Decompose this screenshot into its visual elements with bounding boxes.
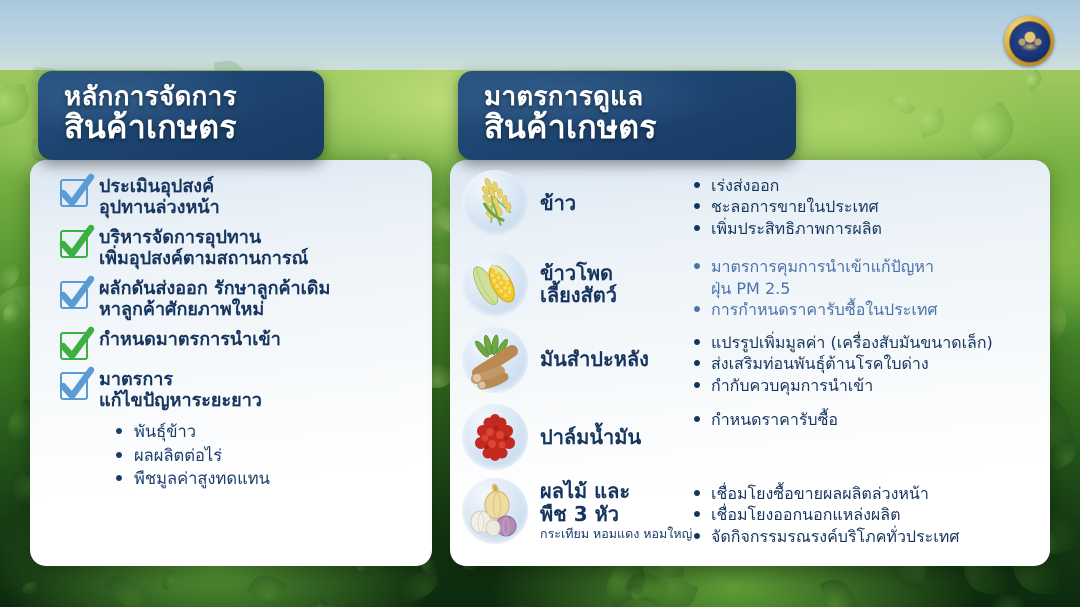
principle-item: มาตรการ แก้ไขปัญหาระยะยาว — [60, 369, 412, 411]
commodity-measure-bullets: เร่งส่งออกชะลอการขายในประเทศเพิ่มประสิทธ… — [694, 170, 1050, 239]
bullet-dot-icon — [694, 225, 700, 231]
commodity-subtitle: กระเทียม หอมแดง หอมใหญ่ — [540, 527, 692, 541]
cassava-icon — [462, 327, 528, 393]
principle-sub-bullets: พันธุ์ข้าวผลผลิตต่อไร่พืชมูลค่าสูงทดแทน — [116, 420, 412, 490]
garlic-onion-icon — [462, 478, 528, 544]
bullet-dot-icon — [116, 428, 122, 434]
bullet-dot-icon — [694, 511, 700, 517]
bullet-dot-icon — [694, 306, 700, 312]
principle-item-label: กำหนดมาตรการนำเข้า — [99, 329, 281, 350]
bullet-dot-icon — [694, 533, 700, 539]
list-item: จัดกิจกรรมรณรงค์บริโภคทั่วประเทศ — [694, 526, 1050, 547]
commodity-name: ข้าว — [540, 192, 576, 215]
list-item: เชื่อมโยงซื้อขายผลผลิตล่วงหน้า — [694, 483, 1050, 504]
rice-ears-icon — [462, 170, 528, 236]
measure-label: ชะลอการขายในประเทศ — [711, 196, 879, 217]
measure-label: เร่งส่งออก — [711, 175, 779, 196]
list-item: เชื่อมโยงออกนอกแหล่งผลิต — [694, 504, 1050, 525]
principles-checklist: ประเมินอุปสงค์ อุปทานล่วงหน้าบริหารจัดกา… — [60, 176, 412, 491]
commodity-name-label: ข้าวโพด เลี้ยงสัตว์ — [540, 261, 617, 308]
commodity-name: ผลไม้ และ พืช 3 หัวกระเทียม หอมแดง หอมให… — [540, 480, 692, 541]
principle-item: ประเมินอุปสงค์ อุปทานล่วงหน้า — [60, 176, 412, 218]
principle-item: กำหนดมาตรการนำเข้า — [60, 329, 412, 360]
measure-label: มาตรการคุมการนำเข้าแก้ปัญหา ฝุ่น PM 2.5 — [711, 256, 934, 299]
list-item: มาตรการคุมการนำเข้าแก้ปัญหา ฝุ่น PM 2.5 — [694, 256, 1050, 299]
list-item: การกำหนดราคารับซื้อในประเทศ — [694, 299, 1050, 320]
infographic-root: หลักการจัดการ สินค้าเกษตร ประเมินอุปสงค์… — [0, 0, 1080, 607]
commodity-name: ข้าวโพด เลี้ยงสัตว์ — [540, 262, 617, 307]
commodity-identity: ปาล์มน้ำมัน — [462, 404, 694, 470]
commodity-row: ผลไม้ และ พืช 3 หัวกระเทียม หอมแดง หอมให… — [462, 478, 1050, 547]
sub-bullet-label: พืชมูลค่าสูงทดแทน — [134, 467, 270, 490]
bullet-dot-icon — [694, 382, 700, 388]
principle-item-label: ผลักดันส่งออก รักษาลูกค้าเดิม หาลูกค้าศั… — [99, 278, 330, 320]
list-item: เร่งส่งออก — [694, 175, 1050, 196]
list-item: พืชมูลค่าสูงทดแทน — [116, 467, 412, 490]
measure-label: กำหนดราคารับซื้อ — [711, 409, 838, 430]
list-item: กำหนดราคารับซื้อ — [694, 409, 1050, 430]
commodity-name-label: ปาล์มน้ำมัน — [540, 425, 641, 449]
measure-label: การกำหนดราคารับซื้อในประเทศ — [711, 299, 938, 320]
commodity-measure-bullets: เชื่อมโยงซื้อขายผลผลิตล่วงหน้าเชื่อมโยงอ… — [694, 478, 1050, 547]
checkbox-green-icon — [60, 230, 88, 258]
list-item: ส่งเสริมท่อนพันธุ์ต้านโรคใบด่าง — [694, 353, 1050, 374]
check-mark-icon — [58, 326, 96, 366]
bullet-dot-icon — [694, 263, 700, 269]
sub-bullet-label: ผลผลิตต่อไร่ — [134, 444, 222, 467]
bullet-dot-icon — [694, 416, 700, 422]
principle-item: บริหารจัดการอุปทาน เพิ่มอุปสงค์ตามสถานกา… — [60, 227, 412, 269]
bullet-dot-icon — [694, 360, 700, 366]
commodity-row: ข้าวเร่งส่งออกชะลอการขายในประเทศเพิ่มประ… — [462, 170, 1050, 239]
bullet-dot-icon — [694, 203, 700, 209]
commodity-measure-bullets: แปรรูปเพิ่มมูลค่า (เครื่องสับมันขนาดเล็ก… — [694, 327, 1050, 396]
measure-label: เชื่อมโยงออกนอกแหล่งผลิต — [711, 504, 900, 525]
commodity-measure-bullets: กำหนดราคารับซื้อ — [694, 404, 1050, 430]
list-item: เพิ่มประสิทธิภาพการผลิต — [694, 218, 1050, 239]
commodity-name: มันสำปะหลัง — [540, 348, 649, 371]
oil-palm-icon — [462, 404, 528, 470]
commodity-name-label: ผลไม้ และ พืช 3 หัว — [540, 479, 630, 526]
list-item: ผลผลิตต่อไร่ — [116, 444, 412, 467]
sub-bullet-label: พันธุ์ข้าว — [134, 420, 196, 443]
list-item: พันธุ์ข้าว — [116, 420, 412, 443]
check-mark-icon — [58, 224, 96, 264]
checkbox-blue-icon — [60, 179, 88, 207]
measures-header-line1: มาตรการดูแล — [484, 84, 770, 111]
measures-header-line2: สินค้าเกษตร — [484, 111, 770, 144]
commodity-measures-list: ข้าวเร่งส่งออกชะลอการขายในประเทศเพิ่มประ… — [462, 170, 1050, 547]
principle-item-label: บริหารจัดการอุปทาน เพิ่มอุปสงค์ตามสถานกา… — [99, 227, 308, 269]
check-mark-icon — [58, 366, 96, 406]
bullet-dot-icon — [694, 339, 700, 345]
checkbox-blue-icon — [60, 372, 88, 400]
measure-label: เชื่อมโยงซื้อขายผลผลิตล่วงหน้า — [711, 483, 929, 504]
principles-header: หลักการจัดการ สินค้าเกษตร — [38, 71, 324, 160]
commodity-identity: มันสำปะหลัง — [462, 327, 694, 393]
bullet-dot-icon — [116, 452, 122, 458]
principle-item-label: ประเมินอุปสงค์ อุปทานล่วงหน้า — [99, 176, 220, 218]
list-item: กำกับควบคุมการนำเข้า — [694, 375, 1050, 396]
measure-label: เพิ่มประสิทธิภาพการผลิต — [711, 218, 882, 239]
list-item: ชะลอการขายในประเทศ — [694, 196, 1050, 217]
list-item: แปรรูปเพิ่มมูลค่า (เครื่องสับมันขนาดเล็ก… — [694, 332, 1050, 353]
measure-label: กำกับควบคุมการนำเข้า — [711, 375, 873, 396]
principle-item-label: มาตรการ แก้ไขปัญหาระยะยาว — [99, 369, 262, 411]
commodity-identity: ข้าวโพด เลี้ยงสัตว์ — [462, 251, 694, 317]
commodity-row: ข้าวโพด เลี้ยงสัตว์มาตรการคุมการนำเข้าแก… — [462, 251, 1050, 320]
bullet-dot-icon — [116, 475, 122, 481]
measure-label: จัดกิจกรรมรณรงค์บริโภคทั่วประเทศ — [711, 526, 959, 547]
commodity-name-label: มันสำปะหลัง — [540, 347, 649, 371]
bullet-dot-icon — [694, 182, 700, 188]
bullet-dot-icon — [694, 490, 700, 496]
commodity-row: ปาล์มน้ำมันกำหนดราคารับซื้อ — [462, 404, 1050, 470]
principles-header-line1: หลักการจัดการ — [64, 84, 298, 111]
measure-label: ส่งเสริมท่อนพันธุ์ต้านโรคใบด่าง — [711, 353, 929, 374]
commodity-name: ปาล์มน้ำมัน — [540, 426, 641, 449]
check-mark-icon — [58, 275, 96, 315]
commodity-name-label: ข้าว — [540, 191, 576, 215]
commodity-measure-bullets: มาตรการคุมการนำเข้าแก้ปัญหา ฝุ่น PM 2.5ก… — [694, 251, 1050, 320]
measure-label: แปรรูปเพิ่มมูลค่า (เครื่องสับมันขนาดเล็ก… — [711, 332, 993, 353]
principle-item: ผลักดันส่งออก รักษาลูกค้าเดิม หาลูกค้าศั… — [60, 278, 412, 320]
corn-icon — [462, 251, 528, 317]
check-mark-icon — [58, 173, 96, 213]
measures-header: มาตรการดูแล สินค้าเกษตร — [458, 71, 796, 160]
commodity-row: มันสำปะหลังแปรรูปเพิ่มมูลค่า (เครื่องสับ… — [462, 327, 1050, 396]
principles-header-line2: สินค้าเกษตร — [64, 111, 298, 144]
checkbox-blue-icon — [60, 281, 88, 309]
checkbox-green-icon — [60, 332, 88, 360]
commodity-identity: ผลไม้ และ พืช 3 หัวกระเทียม หอมแดง หอมให… — [462, 478, 694, 544]
commodity-identity: ข้าว — [462, 170, 694, 236]
thai-government-seal-icon — [1004, 16, 1054, 66]
